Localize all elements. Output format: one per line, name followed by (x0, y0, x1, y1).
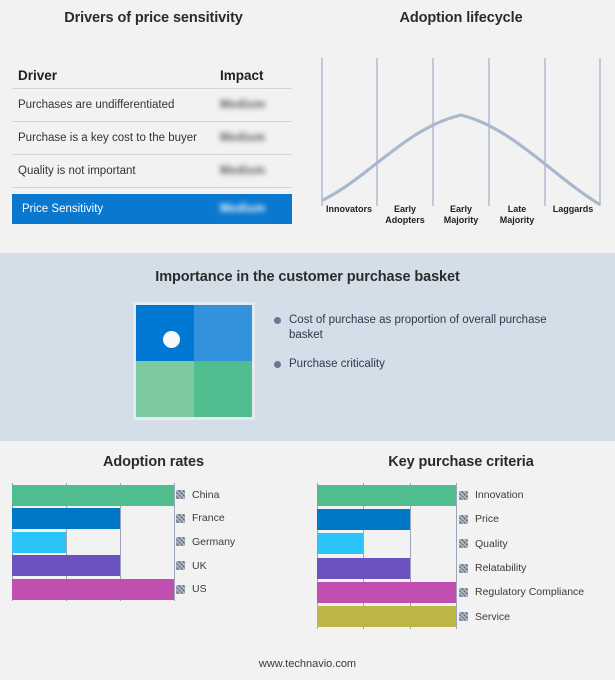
bar-relatability (317, 558, 410, 579)
quadrant-matrix (133, 302, 255, 420)
key-purchase-criteria-legend: InnovationPriceQualityRelatabilityRegula… (459, 483, 584, 629)
impact-value: Medium (220, 203, 292, 215)
bar-china (12, 485, 174, 506)
bullet-icon (274, 317, 281, 324)
bar-germany (12, 532, 66, 553)
bar-us (12, 579, 174, 600)
table-row: Purchases are undifferentiated Medium (12, 89, 292, 121)
bar-quality (317, 533, 363, 554)
table-row: Purchase is a key cost to the buyer Medi… (12, 122, 292, 154)
column-header-driver: Driver (12, 68, 220, 83)
top-section: Drivers of price sensitivity Driver Impa… (0, 0, 615, 253)
hatched-swatch-icon (176, 585, 185, 594)
adoption-rates-plot (12, 483, 175, 601)
legend-item: Price (459, 507, 584, 531)
quadrant-bottom-left (136, 361, 194, 417)
position-marker-dot (163, 331, 180, 348)
column-header-impact: Impact (220, 68, 292, 83)
legend-item: Service (459, 605, 584, 629)
legend-label: China (192, 489, 219, 501)
legend-item: Innovation (459, 483, 584, 507)
infographic-page: Drivers of price sensitivity Driver Impa… (0, 0, 615, 680)
table-row-highlighted: Price Sensitivity Medium (12, 194, 292, 224)
driver-label: Quality is not important (12, 165, 220, 177)
quadrant-bottom-right (194, 361, 252, 417)
hatched-swatch-icon (459, 588, 468, 597)
legend-item: Purchase criticality (274, 357, 574, 372)
legend-item: US (176, 577, 235, 601)
adoption-rates-title: Adoption rates (0, 454, 307, 470)
legend-item: Cost of purchase as proportion of overal… (274, 313, 574, 343)
lifecycle-segment-early-adopters: Early Adopters (377, 204, 433, 228)
bullet-icon (274, 361, 281, 368)
legend-item: Relatability (459, 556, 584, 580)
hatched-swatch-icon (459, 564, 468, 573)
quadrant-top-right (194, 305, 252, 361)
lifecycle-segment-labels: Innovators Early Adopters Early Majority… (321, 204, 601, 228)
bar-service (317, 606, 456, 627)
basket-panel-title: Importance in the customer purchase bask… (0, 269, 615, 285)
drivers-panel-title: Drivers of price sensitivity (0, 10, 307, 26)
driver-label: Purchase is a key cost to the buyer (12, 132, 220, 144)
driver-label: Price Sensitivity (12, 203, 220, 215)
quadrant-grid (136, 305, 252, 417)
impact-value: Medium (220, 165, 292, 177)
row-divider (12, 187, 292, 188)
lifecycle-segment-innovators: Innovators (321, 204, 377, 228)
drivers-table: Driver Impact Purchases are undifferenti… (12, 62, 292, 224)
legend-label: Price (475, 513, 499, 525)
legend-label: US (192, 583, 207, 595)
driver-label: Purchases are undifferentiated (12, 99, 220, 111)
legend-label: Innovation (475, 489, 523, 501)
legend-item: Germany (176, 530, 235, 554)
impact-value: Medium (220, 132, 292, 144)
key-purchase-criteria-chart: Key purchase criteria InnovationPriceQua… (307, 441, 615, 680)
legend-label: Relatability (475, 562, 526, 574)
table-row: Quality is not important Medium (12, 155, 292, 187)
legend-label: France (192, 512, 225, 524)
bar-uk (12, 555, 120, 576)
bar-regulatory-compliance (317, 582, 456, 603)
hatched-swatch-icon (176, 561, 185, 570)
legend-label: Regulatory Compliance (475, 586, 584, 598)
legend-label: Cost of purchase as proportion of overal… (289, 313, 574, 343)
impact-value: Medium (220, 99, 292, 111)
lifecycle-segment-late-majority: Late Majority (489, 204, 545, 228)
hatched-swatch-icon (176, 514, 185, 523)
footer-url: www.technavio.com (0, 658, 615, 670)
basket-legend: Cost of purchase as proportion of overal… (274, 313, 574, 386)
hatched-swatch-icon (459, 539, 468, 548)
hatched-swatch-icon (176, 490, 185, 499)
legend-item: UK (176, 554, 235, 578)
bar-innovation (317, 485, 456, 506)
bar-france (12, 508, 120, 529)
lifecycle-panel: Adoption lifecycle Innovators (307, 0, 615, 253)
hatched-swatch-icon (459, 515, 468, 524)
gridline (456, 483, 457, 629)
key-purchase-criteria-plot (317, 483, 457, 629)
table-header-row: Driver Impact (12, 62, 292, 88)
hatched-swatch-icon (459, 491, 468, 500)
legend-item: China (176, 483, 235, 507)
legend-label: Purchase criticality (289, 357, 385, 372)
lifecycle-curve-svg (321, 58, 601, 228)
gridline (174, 483, 175, 601)
lifecycle-segment-early-majority: Early Majority (433, 204, 489, 228)
lifecycle-panel-title: Adoption lifecycle (307, 10, 615, 26)
legend-label: Germany (192, 536, 235, 548)
legend-label: Quality (475, 538, 508, 550)
key-purchase-criteria-title: Key purchase criteria (307, 454, 615, 470)
bottom-section: Adoption rates ChinaFranceGermanyUKUS Ke… (0, 441, 615, 680)
legend-label: UK (192, 560, 207, 572)
drivers-panel: Drivers of price sensitivity Driver Impa… (0, 0, 307, 253)
legend-item: Quality (459, 532, 584, 556)
legend-item: Regulatory Compliance (459, 580, 584, 604)
lifecycle-chart: Innovators Early Adopters Early Majority… (321, 58, 601, 228)
legend-label: Service (475, 611, 510, 623)
bar-price (317, 509, 410, 530)
hatched-swatch-icon (459, 612, 468, 621)
adoption-rates-legend: ChinaFranceGermanyUKUS (176, 483, 235, 601)
legend-item: France (176, 507, 235, 531)
lifecycle-segment-laggards: Laggards (545, 204, 601, 228)
hatched-swatch-icon (176, 537, 185, 546)
adoption-rates-chart: Adoption rates ChinaFranceGermanyUKUS (0, 441, 307, 680)
